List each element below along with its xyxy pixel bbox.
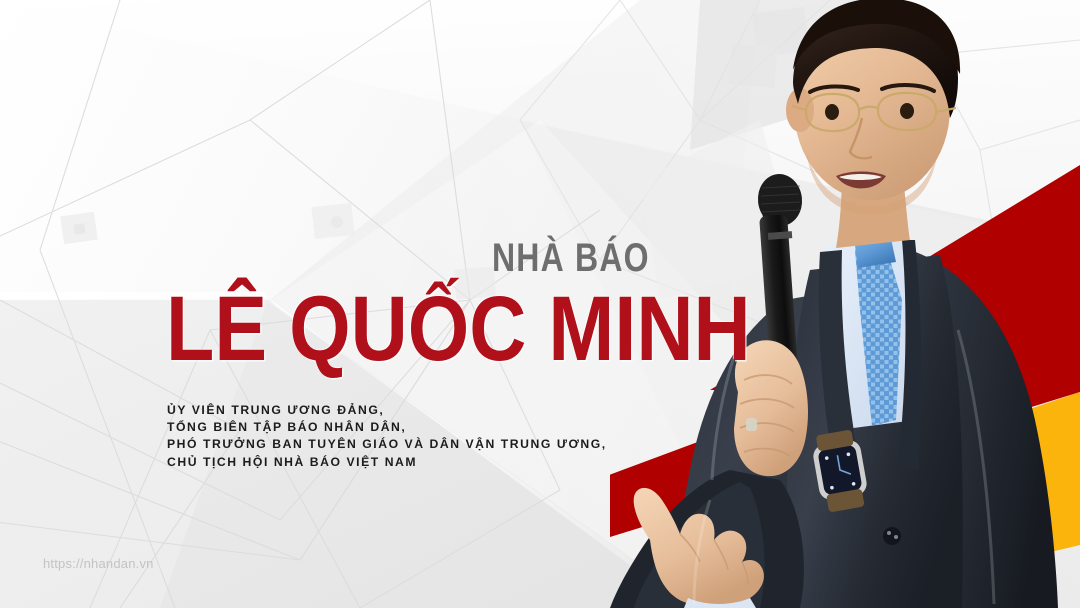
subtitle-line-2: TỔNG BIÊN TẬP BÁO NHÂN DÂN, bbox=[167, 419, 607, 436]
subtitle-line-3: PHÓ TRƯỞNG BAN TUYÊN GIÁO VÀ DÂN VẬN TRU… bbox=[167, 436, 607, 453]
website-watermark: https://nhandan.vn bbox=[43, 556, 154, 571]
page-title: LÊ QUỐC MINH bbox=[166, 283, 751, 377]
subtitle-block: ỦY VIÊN TRUNG ƯƠNG ĐẢNG, TỔNG BIÊN TẬP B… bbox=[167, 402, 607, 471]
kicker-text: NHÀ BÁO bbox=[492, 238, 650, 278]
poster-canvas: NHÀ BÁO LÊ QUỐC MINH ỦY VIÊN TRUNG ƯƠNG … bbox=[0, 0, 1080, 608]
subtitle-line-4: CHỦ TỊCH HỘI NHÀ BÁO VIỆT NAM bbox=[167, 454, 607, 471]
subtitle-line-1: ỦY VIÊN TRUNG ƯƠNG ĐẢNG, bbox=[167, 402, 607, 419]
